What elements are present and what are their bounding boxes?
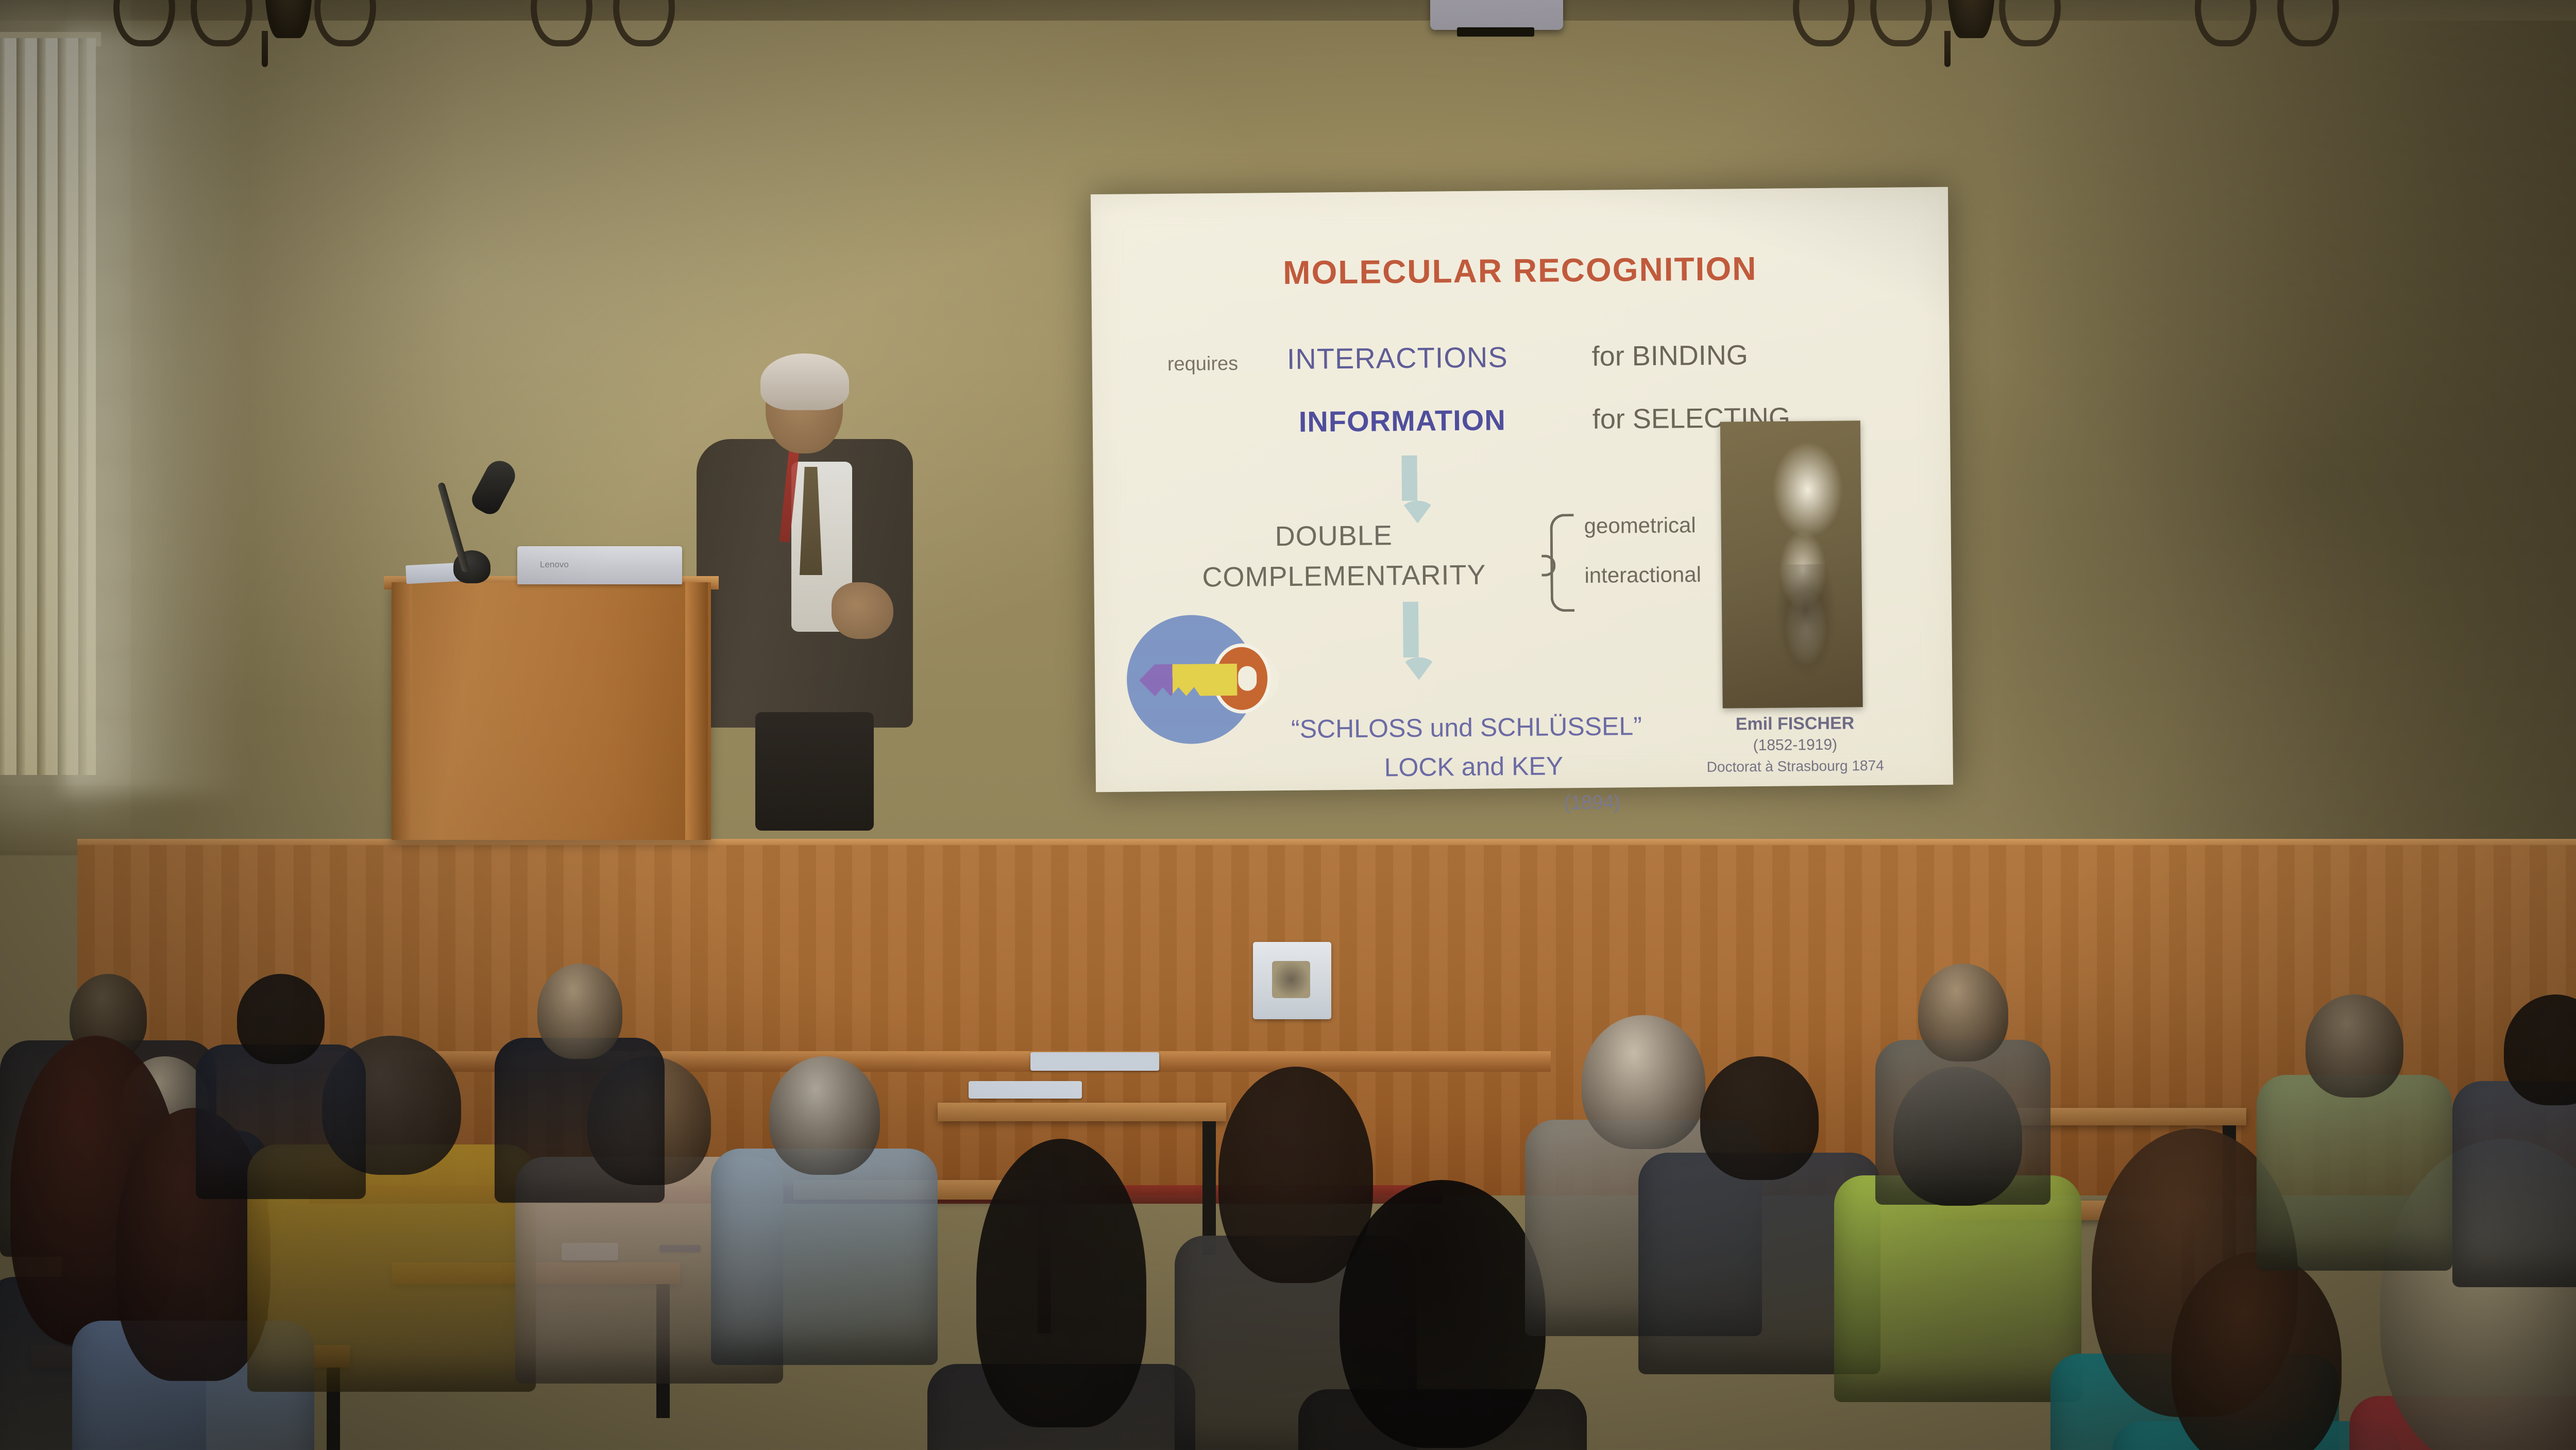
chandelier-left-icon: [113, 0, 402, 57]
chandelier-right2-icon: [2195, 0, 2370, 57]
papers-on-desk: [969, 1081, 1082, 1099]
down-arrow-icon-1: [1400, 456, 1419, 501]
down-arrow-icon-2: [1401, 602, 1420, 657]
audience-seating-area: [0, 747, 2576, 1450]
ceiling-projector: [1430, 0, 1563, 30]
attendee-torso: [711, 1149, 938, 1365]
double-label: DOUBLE: [1275, 519, 1393, 552]
attendee-green-shirt-right: [2257, 994, 2452, 1293]
attendee-head: [537, 964, 622, 1059]
portrait-beard-shading: [1775, 564, 1838, 679]
attendee-head: [2306, 994, 2403, 1098]
attendee-head: [1918, 964, 2008, 1061]
lecture-hall-photo: MOLECULAR RECOGNITION requires INTERACTI…: [0, 0, 2576, 1450]
emil-fischer-portrait: [1720, 420, 1863, 708]
attendee-head: [1340, 1180, 1546, 1448]
brace-item-interactional: interactional: [1584, 562, 1701, 588]
attendee-head: [1700, 1056, 1819, 1180]
attendee-torso: [495, 1038, 665, 1203]
attendee-bluegrey-shirt: [711, 1056, 938, 1391]
laptop-brand-label: Lenovo: [540, 560, 569, 570]
attendee-head: [976, 1139, 1146, 1427]
wall-shadow-right: [1993, 21, 2576, 855]
attendee-torso: [1875, 1040, 2050, 1205]
purpose-binding: for BINDING: [1591, 339, 1748, 373]
attendee-torso: [2257, 1075, 2452, 1271]
slide-content: MOLECULAR RECOGNITION requires INTERACTI…: [1091, 187, 1953, 792]
attendee-checker-far-right: [2452, 994, 2576, 1311]
projection-screen: MOLECULAR RECOGNITION requires INTERACTI…: [1091, 187, 1953, 792]
speaker-hand: [832, 582, 893, 639]
attendee-dark-hair-right: [927, 1139, 1195, 1450]
attendee-dark-head-back: [196, 974, 366, 1219]
attendee-bald-center: [495, 964, 665, 1224]
key-bow-hole-shape: [1238, 666, 1257, 691]
window-light-glow: [62, 31, 247, 794]
keyword-interactions: INTERACTIONS: [1286, 340, 1507, 376]
complementarity-label: COMPLEMENTARITY: [1202, 559, 1486, 594]
portrait-name: Emil FISCHER: [1718, 713, 1872, 735]
attendee-head: [2504, 994, 2576, 1105]
curly-brace-icon: [1550, 514, 1574, 612]
brace-item-geometrical: geometrical: [1584, 513, 1696, 538]
lock-key-german-text: “SCHLOSS und SCHLÜSSEL”: [1291, 711, 1642, 744]
projector-lens-icon: [1457, 27, 1534, 37]
attendee-head: [769, 1056, 880, 1175]
lock-and-key-icon: [1126, 614, 1266, 747]
speaker-hair: [760, 353, 849, 410]
key-blade-shape: [1139, 664, 1238, 697]
keyword-information: INFORMATION: [1299, 403, 1506, 439]
attendee-torso: [196, 1044, 366, 1199]
attendee-bald-right: [1875, 964, 2050, 1226]
slide-title: MOLECULAR RECOGNITION: [1091, 248, 1949, 294]
papers-back: [1030, 1052, 1159, 1071]
attendee-head: [237, 974, 325, 1064]
chandelier-right-icon: [1793, 0, 2081, 57]
chandelier-left2-icon: [531, 0, 706, 57]
requires-label: requires: [1167, 353, 1239, 376]
attendee-torso: [2452, 1081, 2576, 1287]
